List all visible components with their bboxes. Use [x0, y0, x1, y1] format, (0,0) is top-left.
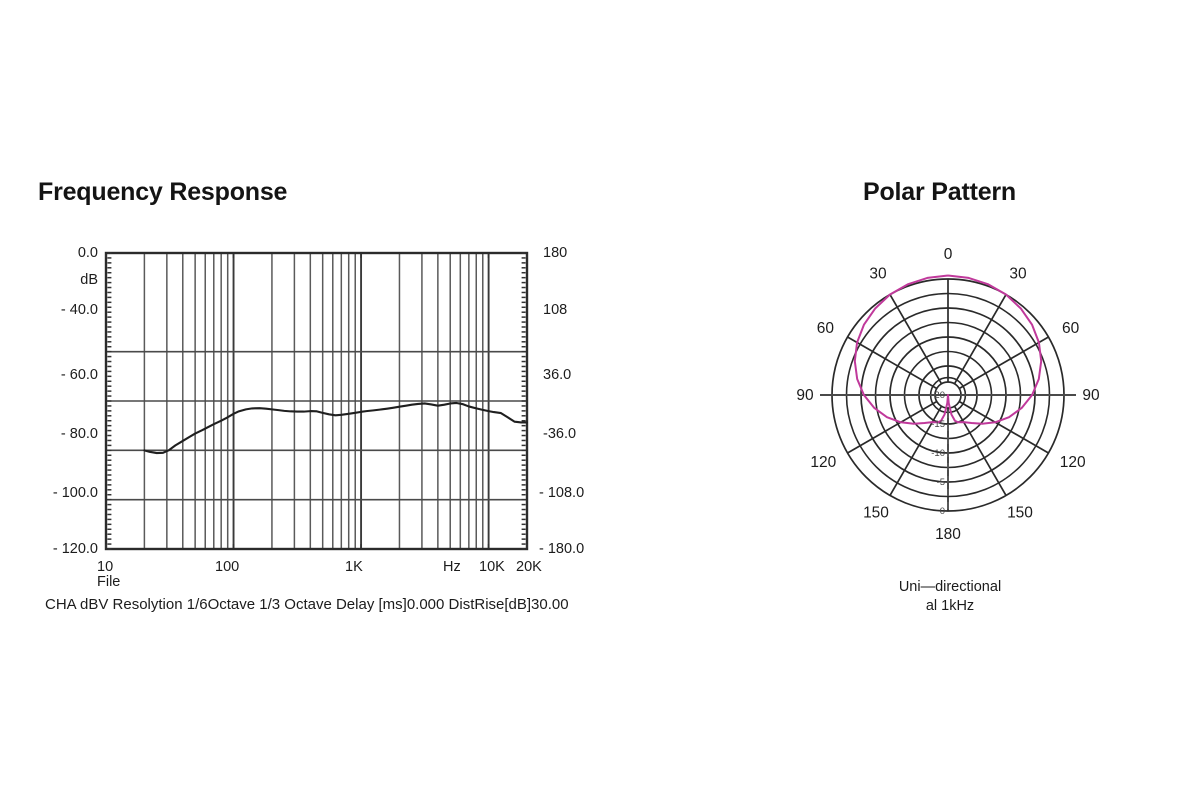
polar-radial-label-4: 0 [940, 506, 945, 517]
polar-caption-line-1: Uni—directional [700, 578, 1200, 597]
fr-x-tick-10k: 10K [479, 559, 505, 575]
polar-angle-label-30-1: 30 [1009, 265, 1027, 282]
fr-right-tick-1: 108 [543, 302, 567, 318]
polar-angle-label-0-0: 0 [944, 246, 953, 263]
fr-right-tick-4: - 108.0 [539, 485, 584, 501]
polar-angle-label-120-7: 120 [1060, 454, 1086, 471]
fr-settings-caption: CHA dBV Resolytion 1/6Octave 1/3 Octave … [45, 596, 569, 613]
polar-radial-label-3: -5 [937, 477, 945, 488]
fr-x-tick-100: 100 [215, 559, 239, 575]
polar-pattern-plot: 0303060609090120120150150180 -20-15-10-5… [700, 0, 1200, 800]
fr-left-tick-4: - 100.0 [8, 485, 98, 501]
polar-radial-label-2: -10 [931, 448, 945, 459]
polar-pattern-panel: Polar Pattern 03030606090901201201501501… [700, 0, 1200, 800]
polar-angle-label-150-10: 150 [863, 505, 889, 522]
frequency-response-gridlines [106, 253, 527, 549]
polar-angle-label-180-11: 180 [935, 526, 961, 543]
frequency-response-curve [144, 403, 527, 453]
fr-left-axis-unit: dB [20, 272, 98, 288]
frequency-response-panel: Frequency Response 0.0 dB - 40.0 - 60.0 … [0, 0, 700, 800]
polar-angle-label-90-6: 90 [796, 387, 814, 404]
polar-caption-line-2: al 1kHz [700, 597, 1200, 616]
polar-angle-label-30-2: 30 [869, 265, 887, 282]
fr-left-tick-5: - 120.0 [8, 541, 98, 557]
screenshot-root: Frequency Response 0.0 dB - 40.0 - 60.0 … [0, 0, 1200, 800]
polar-radial-label-1: -15 [931, 419, 945, 430]
polar-angle-label-150-9: 150 [1007, 505, 1033, 522]
polar-angle-label-90-5: 90 [1082, 387, 1100, 404]
fr-right-tick-0: 180 [543, 245, 567, 261]
polar-angle-label-120-8: 120 [810, 454, 836, 471]
fr-right-tick-3: -36.0 [543, 426, 576, 442]
fr-x-tick-20k: 20K [516, 559, 542, 575]
fr-x-axis-unit: Hz [443, 559, 461, 575]
fr-x-tick-10: 10 [97, 559, 113, 575]
fr-left-tick-3: - 80.0 [14, 426, 98, 442]
frequency-response-plot [0, 0, 700, 800]
fr-left-tick-0: 0.0 [20, 245, 98, 261]
polar-radial-label-0: -20 [931, 390, 945, 401]
fr-file-label: File [97, 574, 120, 590]
polar-angle-label-60-3: 60 [1062, 320, 1080, 337]
fr-x-tick-1k: 1K [345, 559, 363, 575]
polar-angle-label-60-4: 60 [817, 320, 835, 337]
fr-left-tick-2: - 60.0 [14, 367, 98, 383]
fr-left-tick-1: - 40.0 [14, 302, 98, 318]
fr-right-tick-2: 36.0 [543, 367, 571, 383]
fr-right-tick-5: - 180.0 [539, 541, 584, 557]
